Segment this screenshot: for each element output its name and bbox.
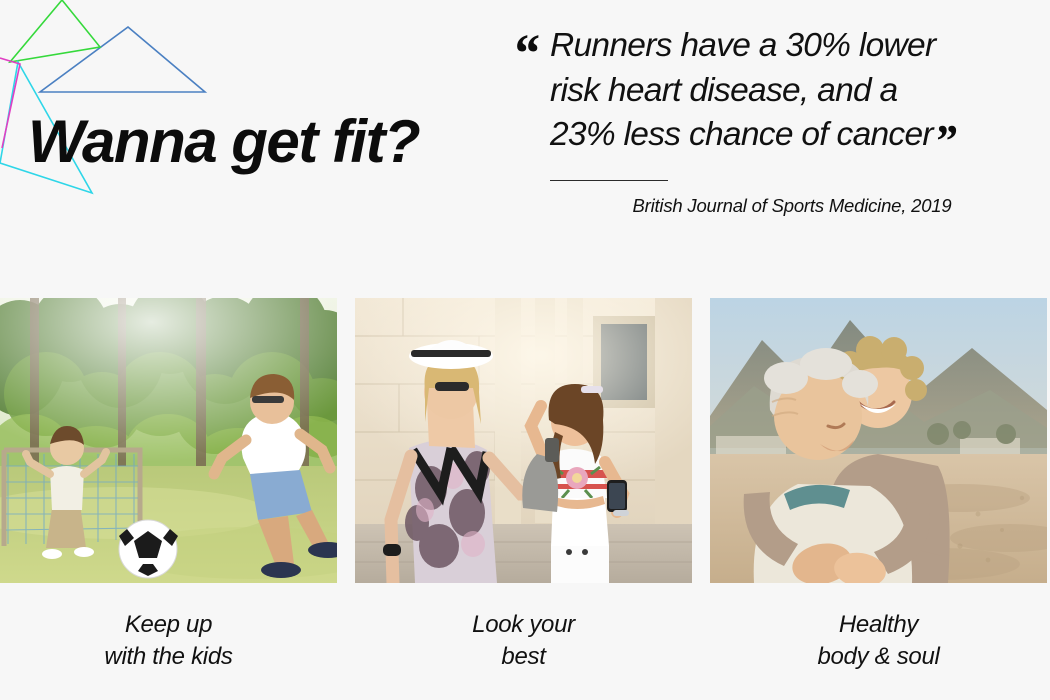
senior-couple-beach-illustration (710, 298, 1047, 583)
attribution-divider (550, 180, 668, 181)
card-look-your-best[interactable]: Look your best (355, 298, 692, 672)
photo-healthy-body-and-soul (710, 298, 1047, 583)
card-row: Keep up with the kids (0, 298, 1050, 672)
open-quote-icon: “ (512, 26, 539, 80)
green-triangle-icon (10, 0, 100, 62)
card-healthy-body-and-soul[interactable]: Healthy body & soul (710, 298, 1047, 672)
photo-keep-up-with-the-kids (0, 298, 337, 583)
quote-attribution: British Journal of Sports Medicine, 2019 (512, 195, 1034, 217)
caption-line-1: Keep up (0, 609, 337, 641)
magenta-triangle-icon (0, 58, 20, 148)
caption-line-1: Look your (355, 609, 692, 641)
caption-healthy-body-and-soul: Healthy body & soul (710, 609, 1047, 672)
page-title: Wanna get fit? (28, 112, 419, 172)
quote-line-2: risk heart disease, and a (550, 69, 1034, 114)
caption-line-1: Healthy (710, 609, 1047, 641)
soccer-ball-icon (119, 520, 178, 578)
caption-line-2: body & soul (710, 641, 1047, 673)
caption-line-2: with the kids (0, 641, 337, 673)
quote-line-1: Runners have a 30% lower (550, 24, 1034, 69)
blue-triangle-icon (40, 27, 205, 92)
caption-line-2: best (355, 641, 692, 673)
soccer-garden-illustration (0, 298, 337, 583)
women-walking-illustration (355, 298, 692, 583)
poster-root: Wanna get fit? “ Runners have a 30% lowe… (0, 0, 1050, 700)
quote-line-3-text: 23% less chance of cancer (550, 116, 933, 153)
caption-keep-up-with-the-kids: Keep up with the kids (0, 609, 337, 672)
photo-look-your-best (355, 298, 692, 583)
card-keep-up-with-the-kids[interactable]: Keep up with the kids (0, 298, 337, 672)
quote-text: Runners have a 30% lower risk heart dise… (550, 24, 1034, 158)
quote-body: “ Runners have a 30% lower risk heart di… (512, 24, 1034, 158)
quote-line-3: 23% less chance of cancer” (550, 113, 1034, 158)
caption-look-your-best: Look your best (355, 609, 692, 672)
quote-block: “ Runners have a 30% lower risk heart di… (512, 24, 1034, 217)
